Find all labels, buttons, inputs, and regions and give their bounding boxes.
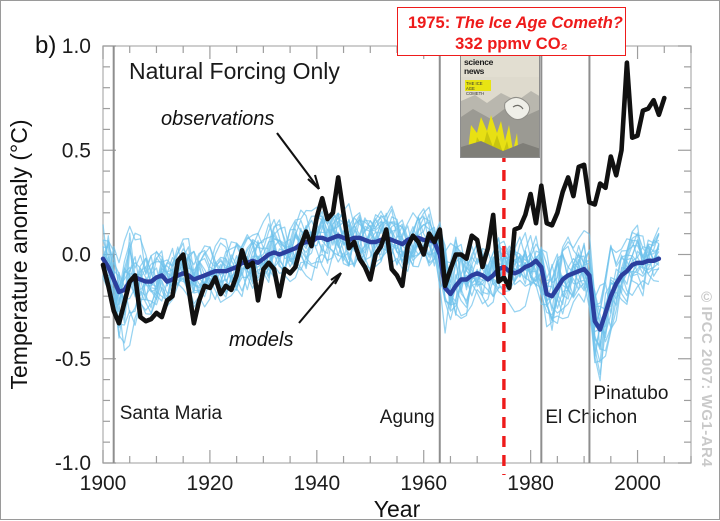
volcano-label: Pinatubo [593, 383, 668, 404]
magazine-blurb-box: THE ICE AGE COMETH [465, 80, 491, 91]
magazine-masthead-line2: news [464, 66, 484, 76]
y-tick-label: 0.0 [62, 244, 91, 267]
chart-svg: 190019201940196019802000-1.0-0.50.00.51.… [1, 1, 720, 521]
callout-line-1: 1975: The Ice Age Cometh? [408, 13, 615, 34]
y-tick-label: 0.5 [62, 139, 91, 162]
y-tick-label: 1.0 [62, 35, 91, 58]
x-tick-label: 1920 [187, 472, 234, 495]
x-tick-label: 1900 [80, 472, 127, 495]
magazine-blurb-text: THE ICE AGE COMETH [465, 80, 491, 97]
models-annotation-label: models [229, 329, 293, 351]
copyright-watermark: ©IPCC 2007: WG1-AR4 [698, 289, 715, 467]
observations-annotation-label: observations [161, 108, 274, 130]
x-tick-label: 1960 [400, 472, 447, 495]
panel-label: b) [35, 32, 56, 59]
magazine-cover-image: science news THE ICE AGE COMETH [460, 54, 540, 158]
callout-annotation-box: 1975: The Ice Age Cometh? 332 ppmv CO₂ [397, 7, 626, 56]
volcano-label: Santa Maria [120, 403, 223, 424]
y-axis-title: Temperature anomaly (°C) [6, 120, 32, 390]
y-tick-label: -0.5 [55, 348, 91, 371]
x-axis-title: Year [374, 496, 421, 521]
callout-year-prefix: 1975: [408, 14, 455, 32]
x-tick-label: 1980 [507, 472, 554, 495]
chart-title: Natural Forcing Only [129, 58, 340, 84]
volcano-label: El Chichon [545, 407, 637, 428]
y-tick-label: -1.0 [55, 452, 91, 475]
magazine-masthead: science news [464, 58, 493, 76]
volcano-label: Agung [380, 407, 435, 428]
callout-title: The Ice Age Cometh? [455, 14, 623, 32]
x-tick-label: 1940 [293, 472, 340, 495]
figure-panel: 190019201940196019802000-1.0-0.50.00.51.… [0, 0, 720, 520]
callout-line-2: 332 ppmv CO₂ [408, 34, 615, 55]
x-tick-label: 2000 [614, 472, 661, 495]
